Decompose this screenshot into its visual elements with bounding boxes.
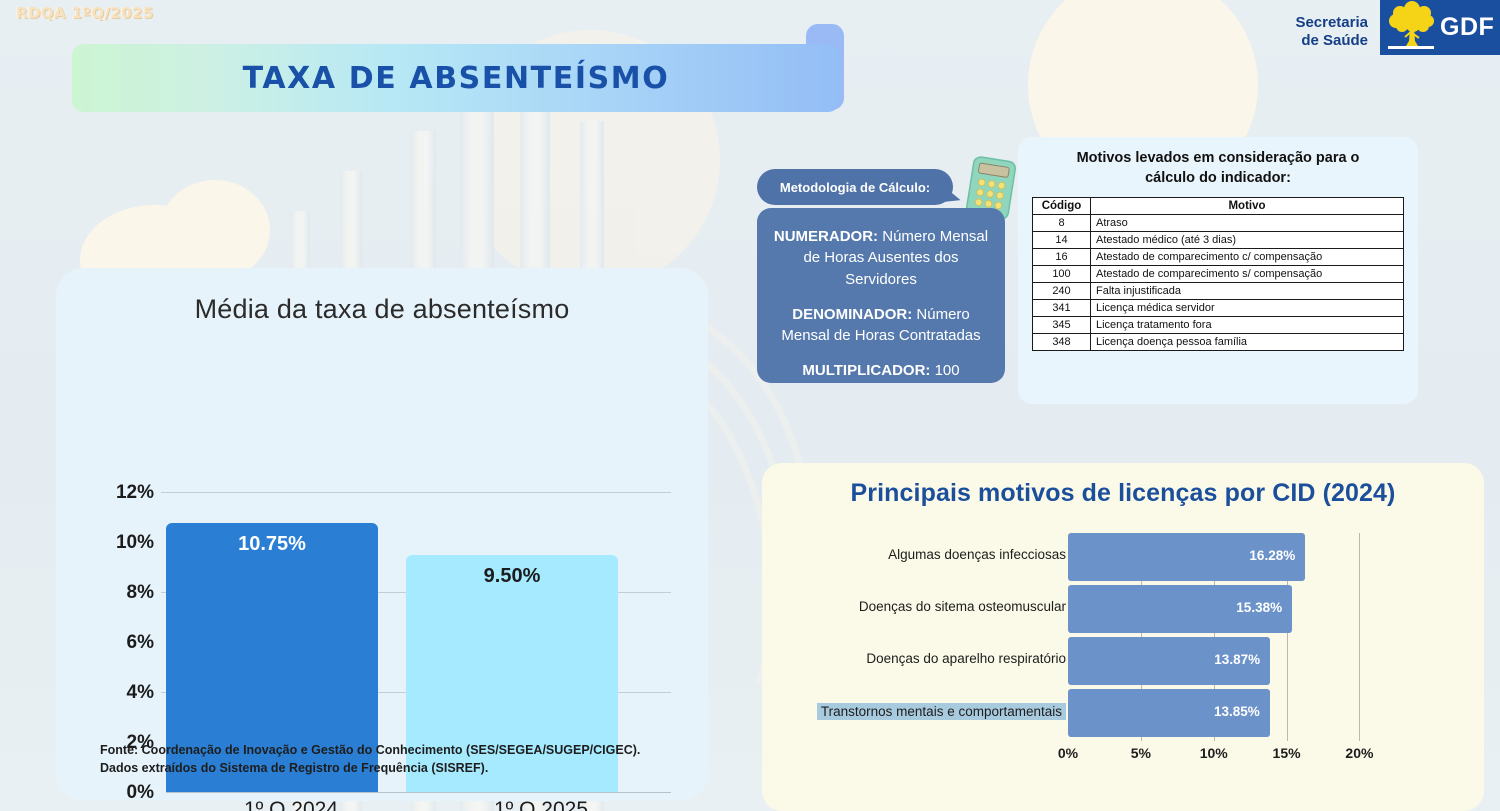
secretaria-label: Secretaria de Saúde bbox=[1295, 6, 1380, 49]
cell-codigo: 341 bbox=[1033, 300, 1091, 317]
absenteeism-chart-card: Média da taxa de absenteísmo 0%2%4%6%8%1… bbox=[56, 268, 708, 801]
cid-bar[interactable]: 13.85% bbox=[1068, 689, 1270, 737]
y-tick-label: 6% bbox=[94, 632, 154, 654]
cid-x-axis: 0%5%10%15%20% bbox=[762, 745, 1484, 767]
cell-codigo: 345 bbox=[1033, 317, 1091, 334]
cid-bar-row: Doenças do aparelho respiratório13.87% bbox=[762, 637, 1484, 685]
cid-bar-row: Doenças do sitema osteomuscular15.38% bbox=[762, 585, 1484, 633]
table-header-row: Código Motivo bbox=[1033, 198, 1404, 215]
table-row: 16Atestado de comparecimento c/ compensa… bbox=[1033, 249, 1404, 266]
cid-bar-row: Transtornos mentais e comportamentais13.… bbox=[762, 689, 1484, 737]
cid-bar-row: Algumas doenças infecciosas16.28% bbox=[762, 533, 1484, 581]
cid-chart-plot: Algumas doenças infecciosas16.28%Doenças… bbox=[762, 533, 1484, 778]
cid-x-tick-label: 5% bbox=[1131, 745, 1151, 761]
y-tick-label: 8% bbox=[94, 582, 154, 604]
table-row: 341Licença médica servidor bbox=[1033, 300, 1404, 317]
gdf-brand-text: GDF bbox=[1440, 13, 1494, 42]
denominador-row: DENOMINADOR: Número Mensal de Horas Cont… bbox=[771, 304, 991, 347]
table-row: 240Falta injustificada bbox=[1033, 283, 1404, 300]
motivos-heading-line1: Motivos levados em consideração para o bbox=[1032, 149, 1404, 169]
cell-motivo: Licença doença pessoa família bbox=[1091, 334, 1404, 351]
y-tick-label: 10% bbox=[94, 532, 154, 554]
table-row: 348Licença doença pessoa família bbox=[1033, 334, 1404, 351]
th-codigo: Código bbox=[1033, 198, 1091, 215]
cell-motivo: Atestado médico (até 3 dias) bbox=[1091, 232, 1404, 249]
cell-codigo: 348 bbox=[1033, 334, 1091, 351]
numerador-label: NUMERADOR: bbox=[774, 228, 878, 245]
cid-bar[interactable]: 15.38% bbox=[1068, 585, 1292, 633]
table-row: 8Atraso bbox=[1033, 215, 1404, 232]
multiplicador-row: MULTIPLICADOR: 100 bbox=[771, 360, 991, 381]
table-row: 100Atestado de comparecimento s/ compens… bbox=[1033, 266, 1404, 283]
cid-bar[interactable]: 13.87% bbox=[1068, 637, 1270, 685]
motivos-table: Código Motivo 8Atraso14Atestado médico (… bbox=[1032, 197, 1404, 351]
cid-chart-card: Principais motivos de licenças por CID (… bbox=[762, 463, 1484, 811]
motivos-heading-line2: cálculo do indicador: bbox=[1032, 169, 1404, 189]
source-note: Fonte: Coordenação de Inovação e Gestão … bbox=[100, 741, 680, 777]
cid-x-tick-label: 15% bbox=[1273, 745, 1301, 761]
cell-motivo: Atestado de comparecimento s/ compensaçã… bbox=[1091, 266, 1404, 283]
cid-category-label: Transtornos mentais e comportamentais bbox=[817, 703, 1066, 720]
numerador-row: NUMERADOR: Número Mensal de Horas Ausent… bbox=[771, 226, 991, 290]
cid-x-tick-label: 10% bbox=[1200, 745, 1228, 761]
multiplicador-label: MULTIPLICADOR: bbox=[802, 362, 930, 379]
gdf-logo: Secretaria de Saúde GDF bbox=[1295, 0, 1500, 55]
cell-motivo: Atraso bbox=[1091, 215, 1404, 232]
cid-bar[interactable]: 16.28% bbox=[1068, 533, 1305, 581]
cid-x-tick-label: 20% bbox=[1345, 745, 1373, 761]
denominador-label: DENOMINADOR: bbox=[792, 306, 912, 323]
secretaria-line1: Secretaria bbox=[1295, 14, 1368, 32]
cell-codigo: 100 bbox=[1033, 266, 1091, 283]
cid-category-label: Doenças do sitema osteomuscular bbox=[859, 599, 1066, 614]
methodology-box: NUMERADOR: Número Mensal de Horas Ausent… bbox=[757, 208, 1005, 383]
cid-x-tick-label: 0% bbox=[1058, 745, 1078, 761]
motivos-card: Motivos levados em consideração para o c… bbox=[1018, 137, 1418, 404]
methodology-bubble-label: Metodologia de Cálculo: bbox=[780, 180, 930, 195]
page-title: TAXA DE ABSENTEÍSMO bbox=[243, 61, 670, 96]
cell-codigo: 8 bbox=[1033, 215, 1091, 232]
multiplicador-text: 100 bbox=[930, 362, 959, 379]
x-tick-label: 1º Q 2024 bbox=[166, 798, 416, 811]
cid-category-label: Algumas doenças infecciosas bbox=[888, 547, 1066, 562]
cell-motivo: Licença tratamento fora bbox=[1091, 317, 1404, 334]
cell-codigo: 16 bbox=[1033, 249, 1091, 266]
bar-value-label: 10.75% bbox=[166, 533, 378, 556]
cell-motivo: Falta injustificada bbox=[1091, 283, 1404, 300]
table-row: 345Licença tratamento fora bbox=[1033, 317, 1404, 334]
motivos-table-body: 8Atraso14Atestado médico (até 3 dias)16A… bbox=[1033, 215, 1404, 351]
cell-codigo: 14 bbox=[1033, 232, 1091, 249]
cell-motivo: Licença médica servidor bbox=[1091, 300, 1404, 317]
header-banner: TAXA DE ABSENTEÍSMO bbox=[72, 44, 840, 112]
cid-bar-value-label: 16.28% bbox=[1249, 548, 1295, 563]
cell-motivo: Atestado de comparecimento c/ compensaçã… bbox=[1091, 249, 1404, 266]
y-tick-label: 0% bbox=[94, 782, 154, 804]
cid-category-label: Doenças do aparelho respiratório bbox=[866, 651, 1066, 666]
gdf-logo-box: GDF bbox=[1380, 0, 1500, 55]
logo-underline bbox=[1388, 46, 1434, 49]
table-row: 14Atestado médico (até 3 dias) bbox=[1033, 232, 1404, 249]
x-tick-label: 1º Q 2025 bbox=[416, 798, 666, 811]
x-axis-labels: 1º Q 20241º Q 2025 bbox=[166, 798, 666, 811]
methodology-bubble: Metodologia de Cálculo: bbox=[757, 169, 953, 205]
y-tick-label: 4% bbox=[94, 682, 154, 704]
y-axis-ticks: 0%2%4%6%8%10%12% bbox=[86, 346, 154, 716]
cid-bar-value-label: 13.85% bbox=[1214, 704, 1260, 719]
x-axis-line bbox=[166, 792, 671, 793]
rdqa-watermark: RDQA 1ºQ/2025 bbox=[16, 4, 154, 22]
cell-codigo: 240 bbox=[1033, 283, 1091, 300]
chart-title: Média da taxa de absenteísmo bbox=[56, 268, 708, 325]
th-motivo: Motivo bbox=[1091, 198, 1404, 215]
cid-chart-title: Principais motivos de licenças por CID (… bbox=[762, 463, 1484, 508]
background-cloud-left-2 bbox=[160, 180, 270, 280]
motivos-heading: Motivos levados em consideração para o c… bbox=[1032, 149, 1404, 188]
cid-bar-value-label: 15.38% bbox=[1236, 600, 1282, 615]
y-tick-label: 12% bbox=[94, 482, 154, 504]
slide-canvas: RDQA 1ºQ/2025 Secretaria de Saúde bbox=[0, 0, 1500, 811]
bar-chart-plot: 0%2%4%6%8%10%12% 10.75%9.50% 1º Q 20241º… bbox=[56, 346, 708, 716]
bar-value-label: 9.50% bbox=[406, 565, 618, 588]
cid-bar-value-label: 13.87% bbox=[1214, 652, 1260, 667]
secretaria-line2: de Saúde bbox=[1295, 32, 1368, 50]
